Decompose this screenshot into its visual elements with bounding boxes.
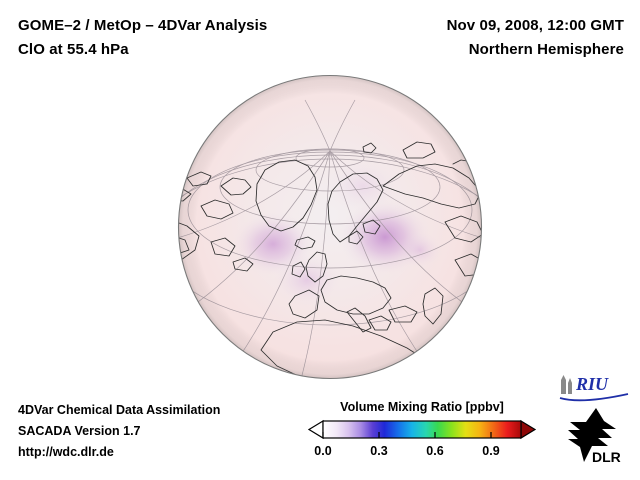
riu-tower-icon bbox=[561, 375, 572, 394]
dlr-logo-text: DLR bbox=[592, 449, 621, 464]
colorbar: Volume Mixing Ratio [ppbv] bbox=[306, 400, 538, 460]
page-title: GOME–2 / MetOp – 4DVar Analysis bbox=[18, 14, 267, 38]
colorbar-scale bbox=[306, 419, 538, 443]
colorbar-tick-2: 0.6 bbox=[426, 444, 443, 458]
riu-logo: RIU bbox=[556, 372, 632, 402]
header-right-block: Nov 09, 2008, 12:00 GMT Northern Hemisph… bbox=[447, 14, 624, 62]
colorbar-tick-0: 0.0 bbox=[314, 444, 331, 458]
colorbar-extend-max bbox=[521, 421, 535, 438]
footer-left-block: 4DVar Chemical Data Assimilation SACADA … bbox=[18, 400, 220, 463]
footer-project-label: 4DVar Chemical Data Assimilation bbox=[18, 400, 220, 421]
globe-limb-shading bbox=[179, 76, 482, 379]
hemisphere-label: Northern Hemisphere bbox=[447, 38, 624, 62]
colorbar-tick-1: 0.3 bbox=[370, 444, 387, 458]
footer-url-link[interactable]: http://wdc.dlr.de bbox=[18, 442, 220, 463]
dlr-logo: DLR bbox=[566, 406, 632, 464]
globe-map bbox=[177, 74, 483, 380]
page-subtitle-species: ClO at 55.4 hPa bbox=[18, 38, 267, 62]
colorbar-tick-labels: 0.0 0.3 0.6 0.9 bbox=[306, 444, 538, 460]
riu-swoosh-icon bbox=[560, 394, 628, 400]
timestamp-label: Nov 09, 2008, 12:00 GMT bbox=[447, 14, 624, 38]
coastline-arabia bbox=[425, 354, 465, 380]
header-left-block: GOME–2 / MetOp – 4DVar Analysis ClO at 5… bbox=[18, 14, 267, 62]
footer-version-label: SACADA Version 1.7 bbox=[18, 421, 220, 442]
colorbar-extend-min bbox=[309, 421, 323, 438]
colorbar-tick-3: 0.9 bbox=[482, 444, 499, 458]
globe-svg bbox=[177, 74, 483, 380]
colorbar-title: Volume Mixing Ratio [ppbv] bbox=[306, 400, 538, 414]
riu-logo-text: RIU bbox=[575, 374, 609, 394]
